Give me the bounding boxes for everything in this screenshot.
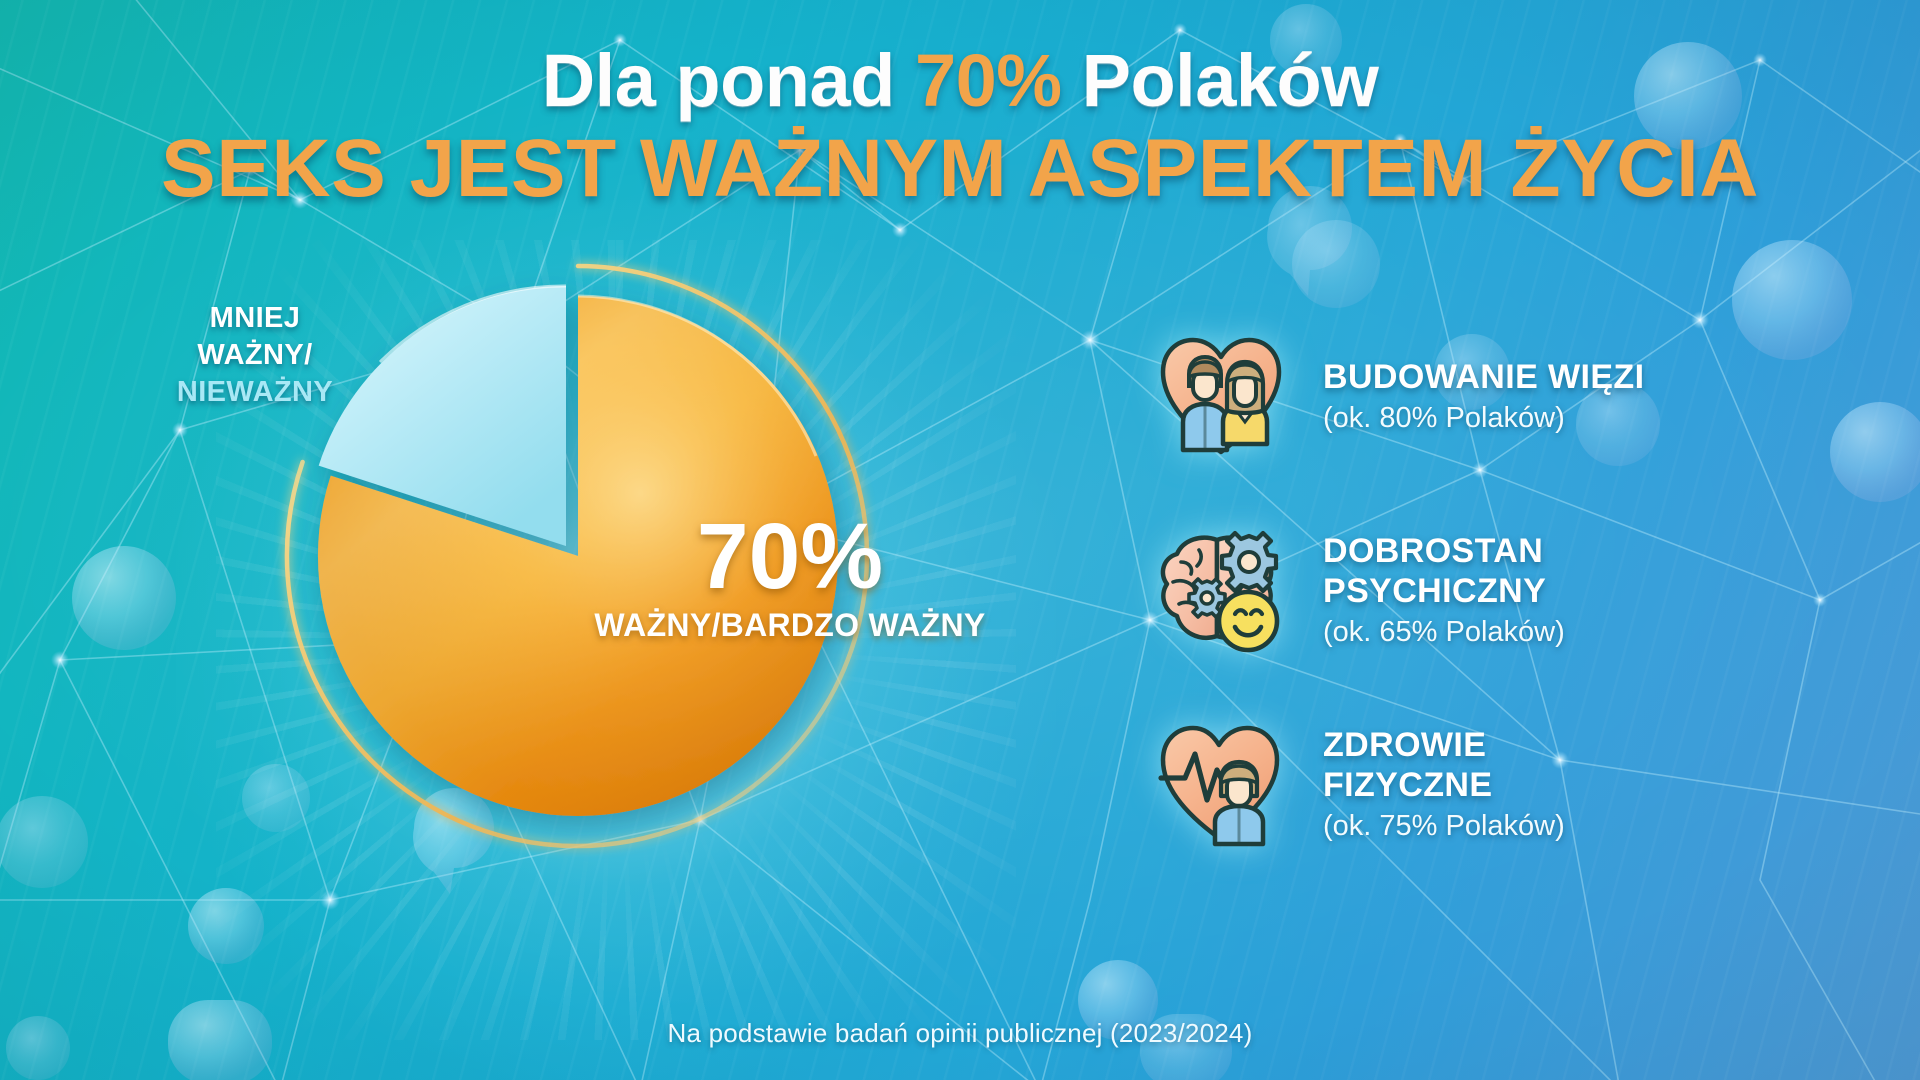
heart-couple-icon xyxy=(1155,330,1287,462)
headline-pre: Dla ponad xyxy=(542,39,915,122)
headline-line-1: Dla ponad 70% Polaków xyxy=(0,44,1920,118)
feature-text-physical-health: ZDROWIE FIZYCZNE (ok. 75% Polaków) xyxy=(1323,724,1895,844)
feature-item-mental-wellbeing: DOBROSTAN PSYCHICZNY (ok. 65% Polaków) xyxy=(1155,524,1895,656)
feature-text-mental-wellbeing: DOBROSTAN PSYCHICZNY (ok. 65% Polaków) xyxy=(1323,530,1895,650)
pie-left-label-line-1: MNIEJ xyxy=(110,300,400,337)
feature-title: DOBROSTAN PSYCHICZNY xyxy=(1323,532,1895,611)
headline-post: Polaków xyxy=(1062,39,1379,122)
feature-item-physical-health: ZDROWIE FIZYCZNE (ok. 75% Polaków) xyxy=(1155,718,1895,850)
pie-left-label: MNIEJ WAŻNY/ NIEWAŻNY xyxy=(110,300,400,411)
feature-title: ZDROWIE FIZYCZNE xyxy=(1323,726,1895,805)
feature-note: (ok. 65% Polaków) xyxy=(1323,615,1895,650)
infographic-canvas: Dla ponad 70% Polaków SEKS JEST WAŻNYM A… xyxy=(0,0,1920,1080)
pie-left-label-line-3: NIEWAŻNY xyxy=(110,374,400,411)
feature-note: (ok. 75% Polaków) xyxy=(1323,809,1895,844)
brain-gears-smiley-icon xyxy=(1155,524,1287,656)
feature-list: BUDOWANIE WIĘZI (ok. 80% Polaków) xyxy=(1155,330,1895,850)
headline-line-2: SEKS JEST WAŻNYM ASPEKTEM ŻYCIA xyxy=(0,128,1920,210)
headline-accent-percent: 70% xyxy=(915,39,1062,122)
feature-text-bonding: BUDOWANIE WIĘZI (ok. 80% Polaków) xyxy=(1323,356,1895,436)
source-footnote: Na podstawie badań opinii publicznej (20… xyxy=(0,1018,1920,1049)
pie-left-label-line-2: WAŻNY/ xyxy=(110,337,400,374)
headline-block: Dla ponad 70% Polaków SEKS JEST WAŻNYM A… xyxy=(0,44,1920,210)
feature-note: (ok. 80% Polaków) xyxy=(1323,401,1895,436)
heart-pulse-person-icon xyxy=(1155,718,1287,850)
feature-item-bonding: BUDOWANIE WIĘZI (ok. 80% Polaków) xyxy=(1155,330,1895,462)
feature-title: BUDOWANIE WIĘZI xyxy=(1323,358,1895,397)
